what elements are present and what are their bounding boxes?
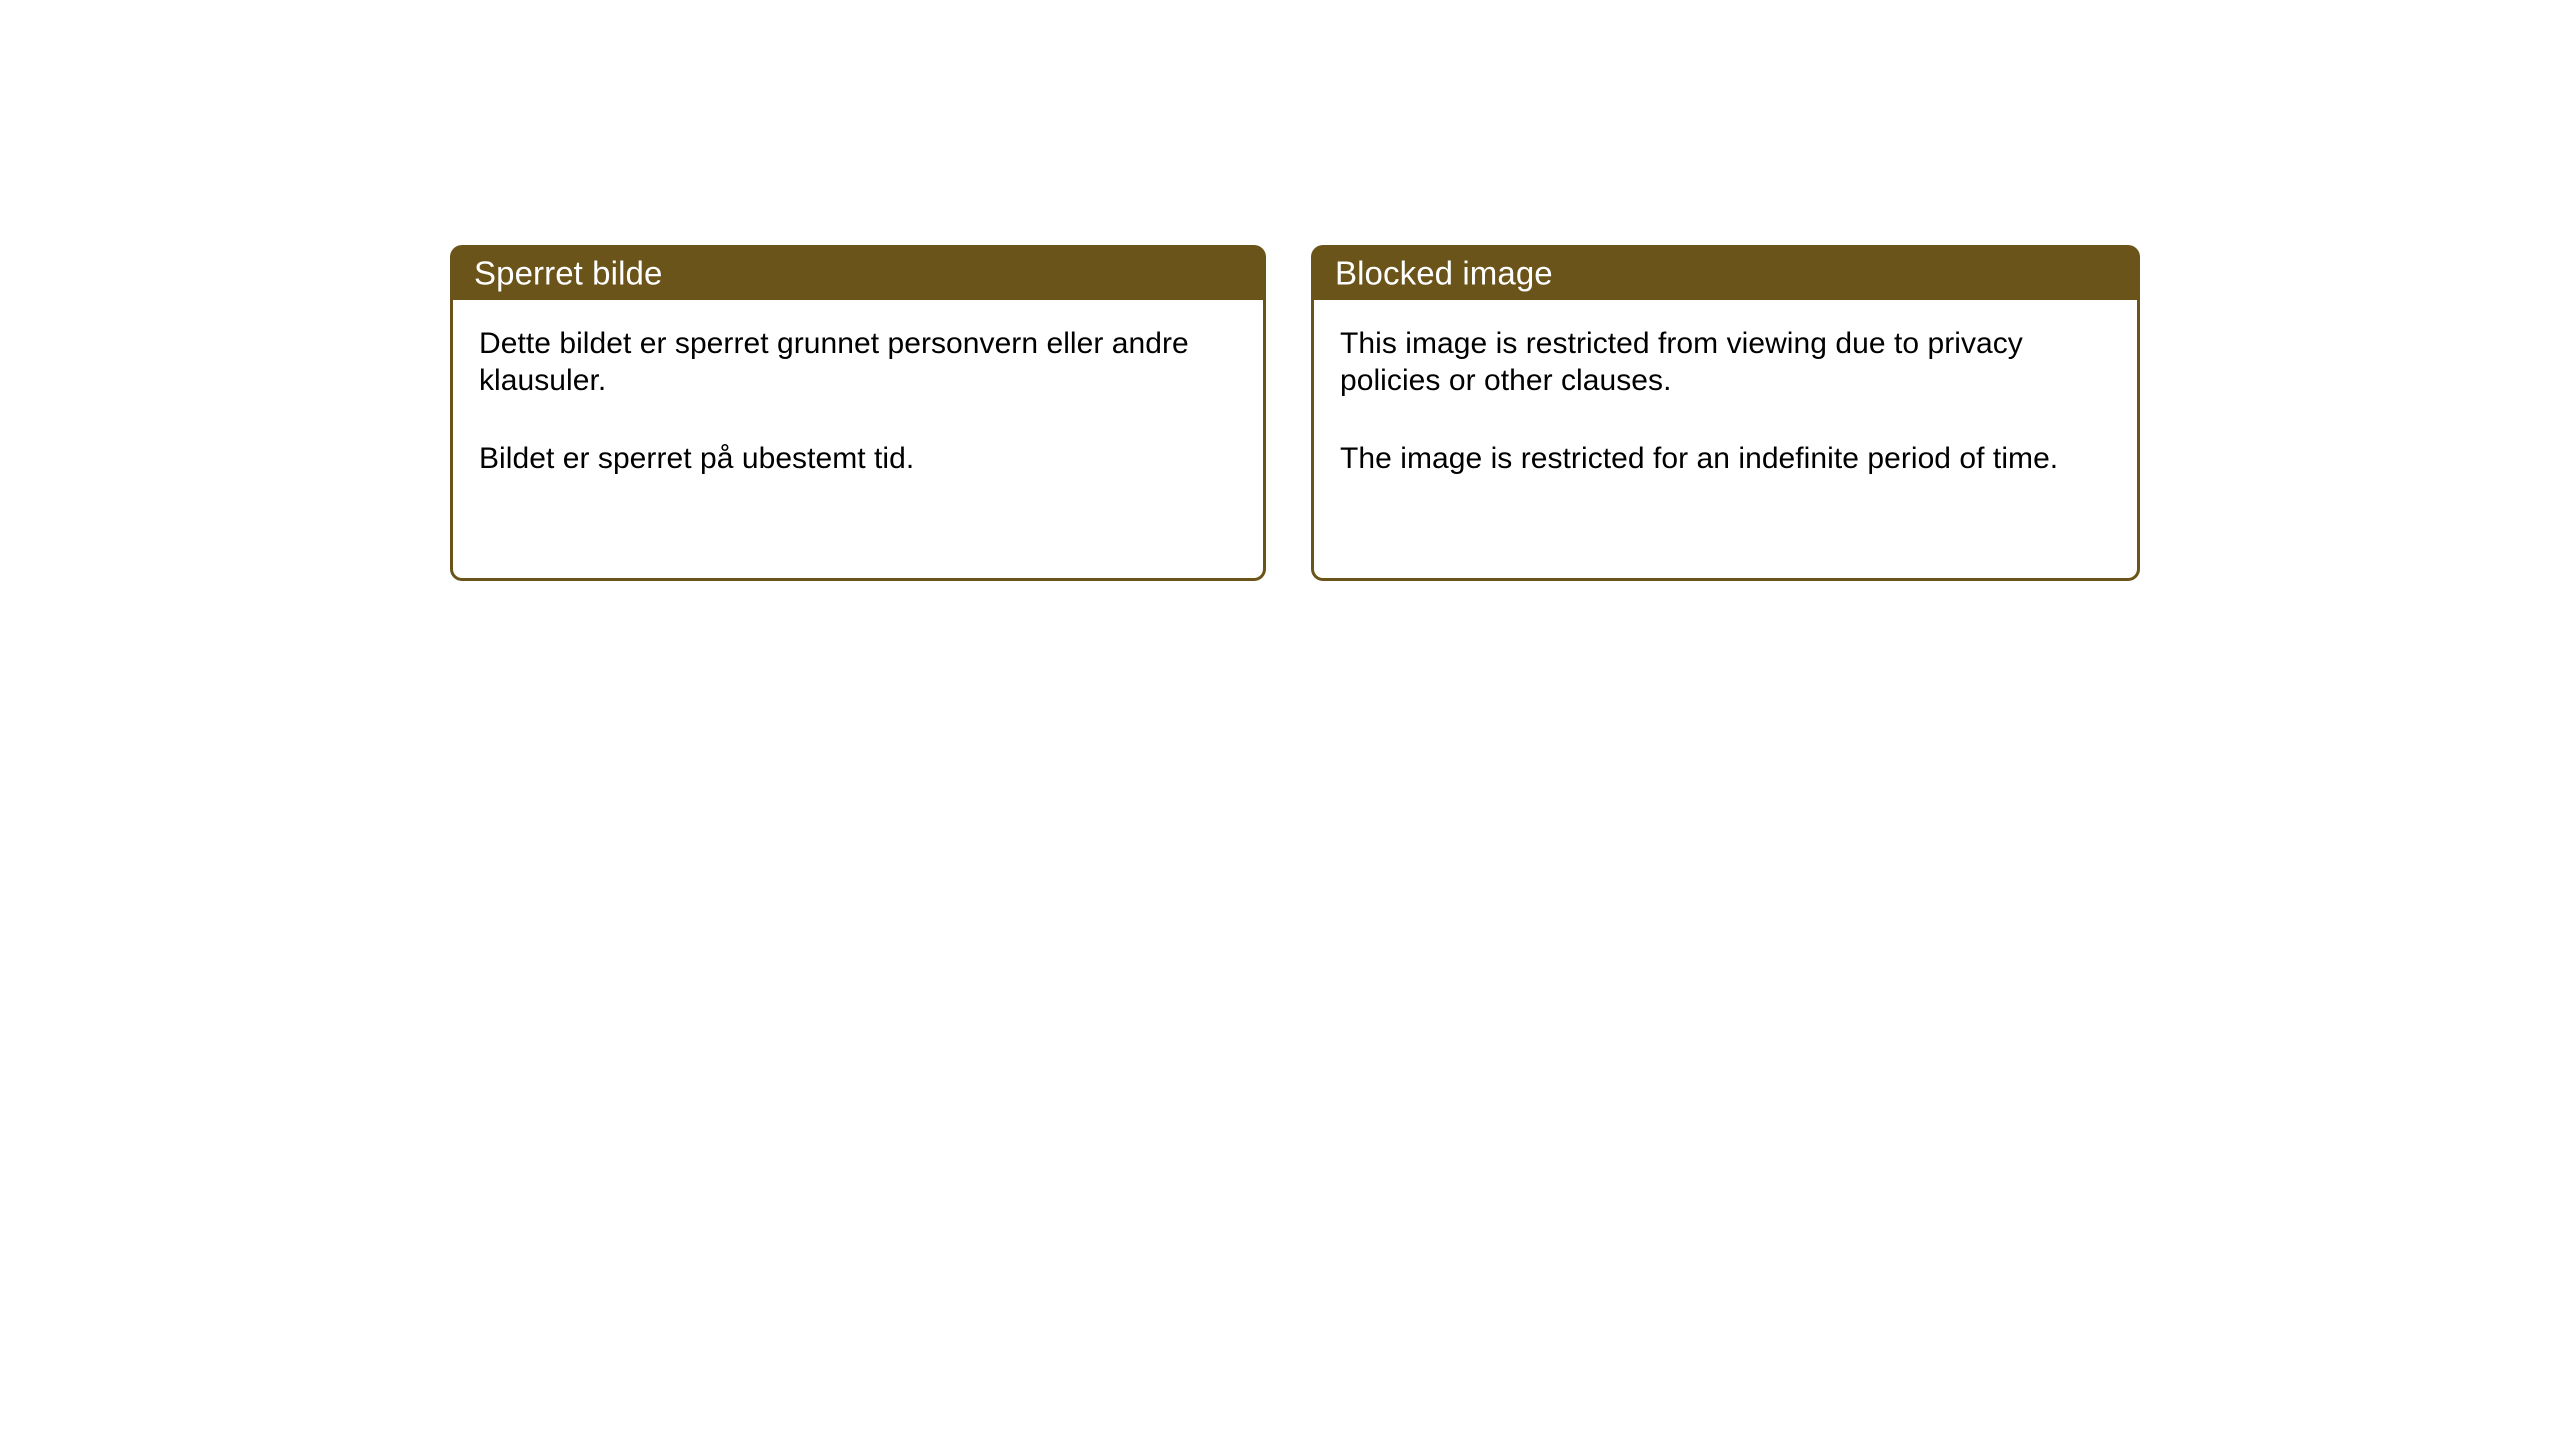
card-paragraph-privacy-en: This image is restricted from viewing du… (1340, 325, 2111, 399)
card-title-en: Blocked image (1335, 256, 1553, 289)
blocked-image-card-en: Blocked image This image is restricted f… (1311, 300, 2140, 581)
blocked-image-card-no: Sperret bilde Dette bildet er sperret gr… (450, 300, 1266, 581)
card-body-no: Dette bildet er sperret grunnet personve… (453, 300, 1263, 477)
card-paragraph-privacy-no: Dette bildet er sperret grunnet personve… (479, 325, 1237, 399)
page-canvas: Sperret bilde Dette bildet er sperret gr… (0, 0, 2560, 1440)
card-paragraph-duration-no: Bildet er sperret på ubestemt tid. (479, 440, 1237, 477)
card-body-en: This image is restricted from viewing du… (1314, 300, 2137, 477)
card-paragraph-duration-en: The image is restricted for an indefinit… (1340, 440, 2111, 477)
card-title-no: Sperret bilde (474, 256, 662, 289)
card-header-no: Sperret bilde (450, 245, 1266, 300)
card-header-en: Blocked image (1311, 245, 2140, 300)
